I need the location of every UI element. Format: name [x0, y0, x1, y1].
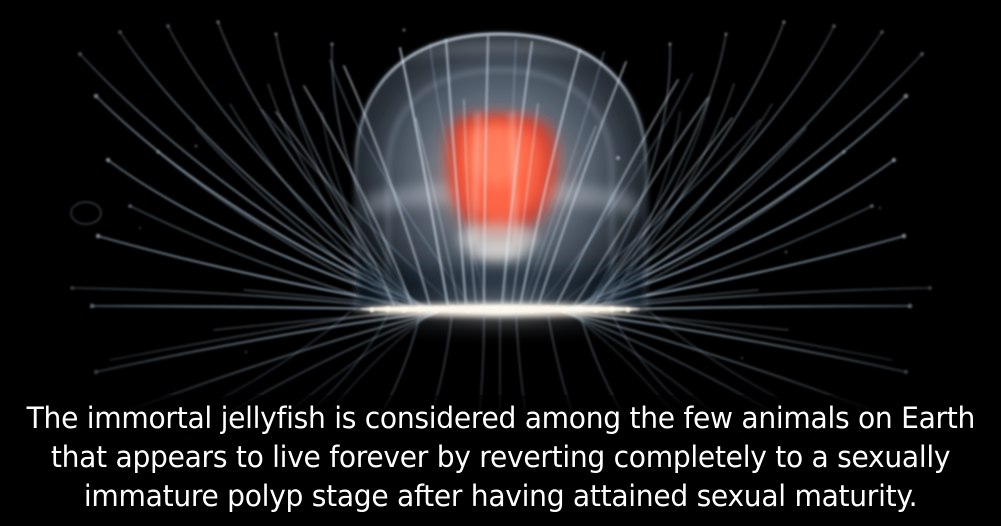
jellyfish-bell: [356, 34, 646, 312]
caption-line-2: that appears to live forever by revertin…: [51, 438, 950, 477]
caption-line-1: The immortal jellyfish is considered amo…: [26, 399, 974, 438]
fact-image: The immortal jellyfish is considered amo…: [0, 0, 1001, 526]
caption-line-3: immature polyp stage after having attain…: [84, 477, 917, 516]
caption-bar: The immortal jellyfish is considered amo…: [0, 395, 1001, 526]
